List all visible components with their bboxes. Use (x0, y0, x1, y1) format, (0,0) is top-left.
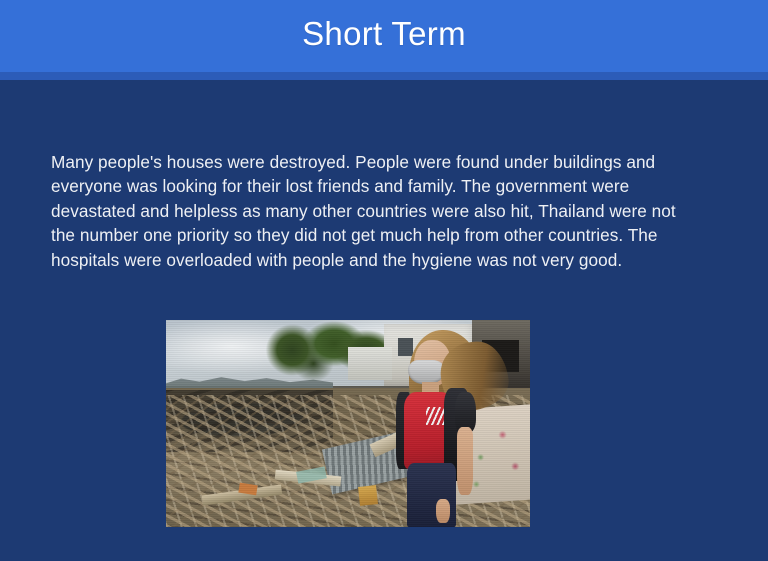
photo-woman-top-stripes (426, 407, 443, 425)
slide: Short Term Many people's houses were des… (0, 0, 768, 561)
photo-orange-fragment (238, 482, 258, 495)
page-title: Short Term (0, 0, 768, 72)
header-divider-strip (0, 72, 768, 80)
tsunami-damage-photo (166, 320, 530, 527)
photo-woman-arm (457, 427, 473, 495)
photo-yellow-fragment (358, 485, 378, 505)
photo-canvas (166, 320, 530, 527)
photo-woman-figure (384, 326, 508, 527)
photo-woman-hand (436, 499, 450, 523)
body-paragraph: Many people's houses were destroyed. Peo… (51, 150, 701, 272)
